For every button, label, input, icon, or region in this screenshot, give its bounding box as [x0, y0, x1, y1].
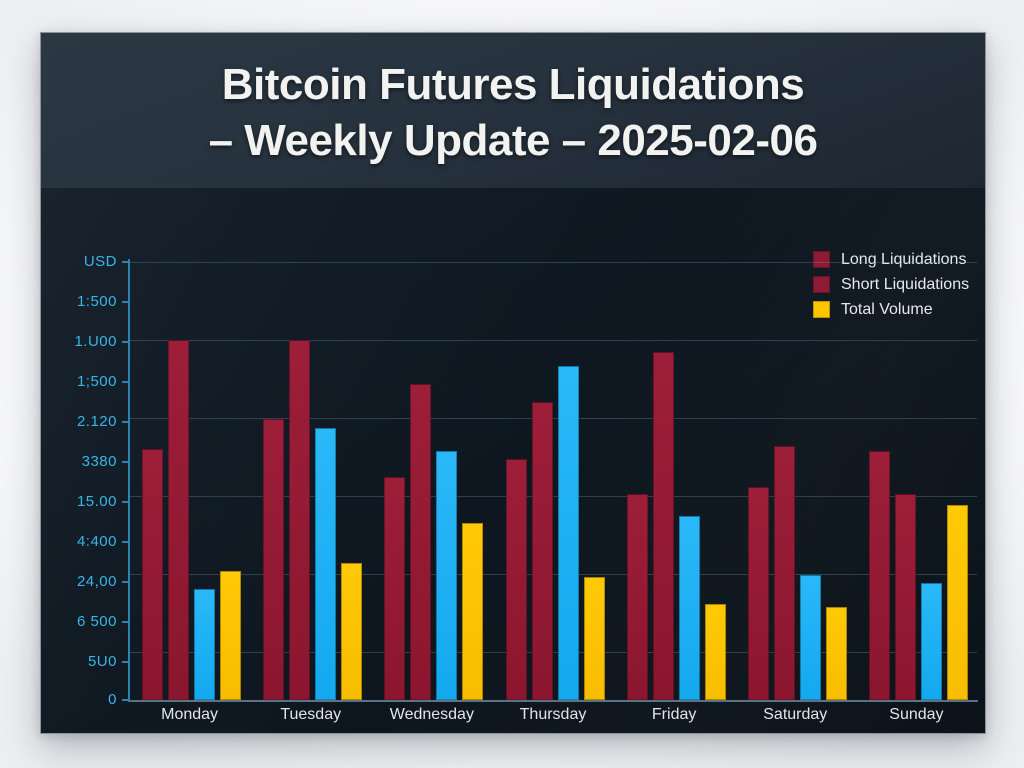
bar-sunday-long[interactable] [869, 451, 890, 700]
x-axis-label-friday: Friday [614, 706, 735, 724]
x-axis-line [128, 700, 978, 702]
bar-sunday-short[interactable] [895, 494, 916, 700]
bar-friday-long[interactable] [627, 494, 648, 700]
y-tick-mark [122, 661, 129, 663]
bar-friday-blue[interactable] [679, 516, 700, 700]
y-tick-mark [122, 621, 129, 623]
y-tick-mark [122, 301, 129, 303]
chart-title-line-2: – Weekly Update – 2025-02-06 [41, 113, 985, 169]
gridline [129, 652, 977, 653]
y-axis-tick-labels: USD 1:500 1.U00 1;500 2.120 3380 15.00 4… [45, 33, 117, 733]
gridline [129, 262, 977, 263]
bar-tuesday-vol[interactable] [341, 563, 362, 700]
bar-tuesday-short[interactable] [289, 340, 310, 700]
y-tick-label: 1;500 [49, 373, 117, 390]
y-tick-mark [122, 541, 129, 543]
bar-monday-blue[interactable] [194, 589, 215, 700]
x-axis-label-wednesday: Wednesday [371, 706, 492, 724]
bar-saturday-short[interactable] [774, 446, 795, 700]
y-tick-label: 24,00 [49, 573, 117, 590]
bar-thursday-long[interactable] [506, 459, 527, 700]
y-tick-mark [122, 461, 129, 463]
bar-monday-short[interactable] [168, 340, 189, 700]
chart-title-line-1: Bitcoin Futures Liquidations [41, 57, 985, 113]
y-tick-mark [122, 421, 129, 423]
bar-sunday-vol[interactable] [947, 505, 968, 700]
plot-area [129, 262, 977, 700]
bar-wednesday-long[interactable] [384, 477, 405, 700]
bar-tuesday-blue[interactable] [315, 428, 336, 700]
y-tick-mark [122, 381, 129, 383]
bar-thursday-vol[interactable] [584, 577, 605, 700]
y-tick-mark [122, 581, 129, 583]
y-tick-label: USD [49, 253, 117, 270]
y-tick-label: 2.120 [49, 413, 117, 430]
y-tick-label: 15.00 [49, 493, 117, 510]
gridline [129, 418, 977, 419]
chart-card: Bitcoin Futures Liquidations – Weekly Up… [40, 32, 986, 734]
y-tick-label: 0 [49, 691, 117, 708]
bar-saturday-vol[interactable] [826, 607, 847, 700]
title-band: Bitcoin Futures Liquidations – Weekly Up… [41, 33, 985, 188]
bar-monday-long[interactable] [142, 449, 163, 700]
x-axis-label-tuesday: Tuesday [250, 706, 371, 724]
y-tick-label: 1:500 [49, 293, 117, 310]
x-axis-label-sunday: Sunday [856, 706, 977, 724]
bar-friday-short[interactable] [653, 352, 674, 700]
bar-sunday-blue[interactable] [921, 583, 942, 700]
y-tick-mark [122, 699, 129, 701]
bar-saturday-long[interactable] [748, 487, 769, 700]
gridline [129, 574, 977, 575]
x-axis-label-monday: Monday [129, 706, 250, 724]
y-tick-label: 6 500 [49, 613, 117, 630]
y-tick-mark [122, 501, 129, 503]
x-axis-label-saturday: Saturday [735, 706, 856, 724]
bar-monday-vol[interactable] [220, 571, 241, 700]
y-tick-mark [122, 341, 129, 343]
gridline [129, 496, 977, 497]
y-tick-mark [122, 261, 129, 263]
gridline [129, 340, 977, 341]
x-axis-label-thursday: Thursday [492, 706, 613, 724]
bar-wednesday-short[interactable] [410, 384, 431, 700]
bar-saturday-blue[interactable] [800, 575, 821, 700]
y-tick-label: 1.U00 [49, 333, 117, 350]
bar-thursday-blue[interactable] [558, 366, 579, 700]
bar-friday-vol[interactable] [705, 604, 726, 700]
y-tick-label: 5U0 [49, 653, 117, 670]
bar-wednesday-blue[interactable] [436, 451, 457, 700]
bar-tuesday-long[interactable] [263, 419, 284, 700]
y-tick-label: 3380 [49, 453, 117, 470]
bar-thursday-short[interactable] [532, 402, 553, 700]
bar-wednesday-vol[interactable] [462, 523, 483, 700]
y-tick-label: 4:400 [49, 533, 117, 550]
